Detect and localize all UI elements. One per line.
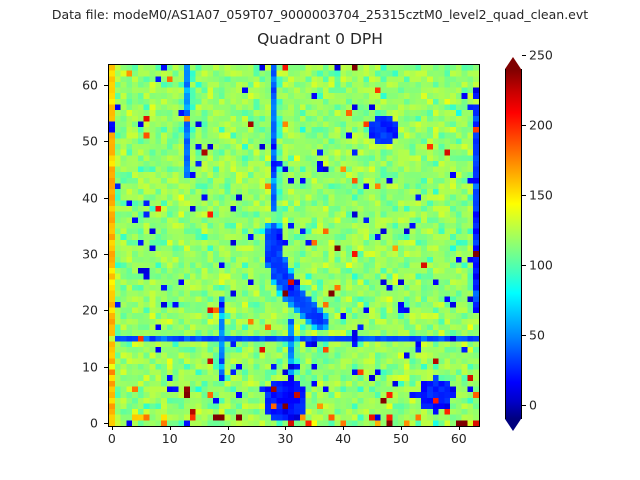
colorbar-gradient [505,69,522,419]
matplotlib-figure: Data file: modeM0/AS1A07_059T07_90000037… [0,0,640,480]
y-tick-mark [104,141,108,142]
x-tick-mark [112,426,113,430]
colorbar-tick-mark [522,55,526,56]
y-tick-label: 30 [0,246,98,261]
x-tick-mark [459,426,460,430]
x-tick-mark [170,426,171,430]
x-tick-label: 60 [451,431,467,446]
y-tick-label: 10 [0,359,98,374]
colorbar-tick-mark [522,405,526,406]
colorbar-tick-mark [522,125,526,126]
heatmap-axes [108,64,480,427]
colorbar-extend-max-arrow [505,57,521,69]
y-tick-mark [104,423,108,424]
y-tick-mark [104,310,108,311]
x-tick-label: 30 [277,431,293,446]
y-tick-label: 60 [0,77,98,92]
y-tick-mark [104,85,108,86]
y-tick-label: 50 [0,134,98,149]
y-tick-label: 0 [0,416,98,431]
x-tick-mark [285,426,286,430]
x-tick-label: 50 [393,431,409,446]
colorbar-tick-label: 150 [529,188,553,203]
x-tick-label: 20 [220,431,236,446]
x-tick-mark [228,426,229,430]
x-tick-mark [343,426,344,430]
y-tick-label: 40 [0,190,98,205]
colorbar-tick-mark [522,335,526,336]
colorbar-tick-label: 100 [529,258,553,273]
data-file-caption: Data file: modeM0/AS1A07_059T07_90000037… [0,7,640,22]
x-tick-label: 10 [162,431,178,446]
y-tick-label: 20 [0,303,98,318]
y-tick-mark [104,198,108,199]
colorbar-tick-label: 200 [529,118,553,133]
y-tick-mark [104,254,108,255]
colorbar-tick-mark [522,195,526,196]
plot-title: Quadrant 0 DPH [0,30,640,48]
x-tick-label: 40 [335,431,351,446]
colorbar-extend-min-arrow [505,419,521,431]
y-tick-mark [104,367,108,368]
colorbar-tick-label: 250 [529,48,553,63]
colorbar [505,63,522,425]
dph-heatmap-image [109,65,479,426]
x-tick-label: 0 [108,431,116,446]
colorbar-tick-mark [522,265,526,266]
x-tick-mark [401,426,402,430]
colorbar-tick-label: 50 [529,328,545,343]
colorbar-tick-label: 0 [529,398,537,413]
